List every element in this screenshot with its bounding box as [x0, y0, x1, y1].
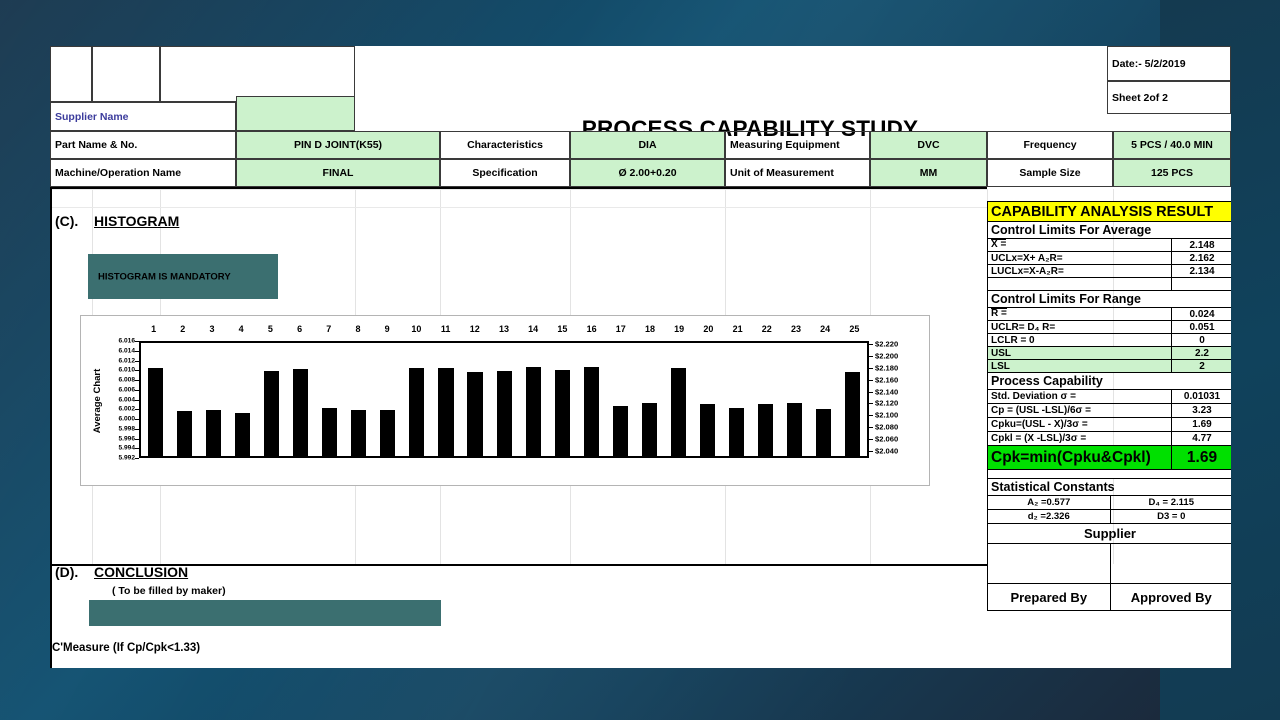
histogram-mandatory-text: HISTOGRAM IS MANDATORY: [98, 271, 231, 282]
chart-bar: [148, 368, 163, 456]
characteristics-value[interactable]: DIA: [570, 131, 725, 159]
specification-value[interactable]: Ø 2.00+0.20: [570, 159, 725, 187]
specification-label-text: Specification: [472, 167, 537, 179]
chart-bar: [816, 409, 831, 456]
chart-y-tick-right: $2.040: [875, 447, 898, 456]
chart-x-tick: 2: [180, 324, 185, 334]
chart-x-tick: 8: [355, 324, 360, 334]
constants-row-2: d₂ =2.326 D3 = 0: [987, 510, 1231, 524]
chart-bar: [438, 368, 453, 456]
chart-y-tick-left: 5.996: [95, 435, 135, 442]
sheet-left-edge-bottom: [50, 564, 52, 668]
chart-x-tick: 17: [616, 324, 626, 334]
date-cell: Date:- 5/2/2019: [1107, 46, 1231, 81]
avg-row-uclx-value: 2.162: [1171, 252, 1231, 264]
chart-bar-slot: [635, 343, 664, 456]
section-d-index: (D).: [55, 564, 78, 580]
chart-x-tick: 25: [849, 324, 859, 334]
chart-bar: [264, 371, 279, 456]
avg-row-lclx: LUCLx=X-A₂R= 2.134: [987, 265, 1231, 278]
histogram-mandatory-box: HISTOGRAM IS MANDATORY: [88, 254, 278, 299]
unit-of-measurement-label: Unit of Measurement: [725, 159, 870, 187]
constant-d2: d₂ =2.326: [988, 510, 1110, 523]
chart-y-tickmark-right: [869, 451, 873, 452]
sample-size-value-text: 125 PCS: [1151, 167, 1193, 179]
measuring-equipment-label: Measuring Equipment: [725, 131, 870, 159]
chart-bar: [845, 372, 860, 456]
part-name-value[interactable]: PIN D JOINT(K55): [236, 131, 440, 159]
approved-by-label: Approved By: [1110, 584, 1232, 610]
section-c-heading: HISTOGRAM: [94, 213, 179, 229]
avg-row-xbar: X = 2.148: [987, 239, 1231, 252]
chart-y-tickmark-right: [869, 439, 873, 440]
avg-row-xbar-label: X =: [988, 239, 1171, 251]
supplier-name-label-cell: Supplier Name: [50, 102, 236, 131]
range-row-lsl-label: LSL: [988, 360, 1171, 372]
chart-bar-slot: [809, 343, 838, 456]
chart-bar-slot: [664, 343, 693, 456]
chart-y-tickmark-left: [135, 458, 139, 459]
cap-row-cp-value: 3.23: [1171, 404, 1231, 417]
statistical-constants-heading: Statistical Constants: [987, 479, 1231, 496]
chart-y-tick-right: $2.140: [875, 387, 898, 396]
chart-x-tick: 10: [411, 324, 421, 334]
chart-y-tick-left: 6.010: [95, 367, 135, 374]
range-row-uclr: UCLR= D₄ R= 0.051: [987, 321, 1231, 334]
sheet-cell: Sheet 2of 2: [1107, 81, 1231, 114]
chart-y-tickmark-right: [869, 415, 873, 416]
frequency-label-text: Frequency: [1023, 139, 1076, 151]
machine-operation-label-text: Machine/Operation Name: [55, 167, 181, 179]
chart-bar-slot: [286, 343, 315, 456]
header-empty-cell-3: [160, 46, 355, 102]
chart-y-tick-left: 6.014: [95, 347, 135, 354]
chart-x-tick: 3: [209, 324, 214, 334]
gridline-horizontal: [50, 207, 987, 208]
supplier-name-label: Supplier Name: [55, 111, 129, 123]
chart-bar-slot: [402, 343, 431, 456]
chart-x-tick: 20: [703, 324, 713, 334]
chart-bar: [206, 410, 221, 456]
cpk-result-value: 1.69: [1171, 446, 1231, 469]
chart-bar: [409, 368, 424, 456]
sample-size-label-text: Sample Size: [1019, 167, 1080, 179]
range-row-rbar-label: R =: [988, 308, 1171, 320]
machine-operation-label: Machine/Operation Name: [50, 159, 236, 187]
supplier-name-value-cell[interactable]: [236, 96, 355, 131]
chart-y-tick-left: 5.994: [95, 445, 135, 452]
chart-y-tickmark-right: [869, 356, 873, 357]
chart-x-tick: 1: [151, 324, 156, 334]
chart-y-tick-right: $2.060: [875, 435, 898, 444]
chart-bar: [671, 368, 686, 456]
prepared-by-signature-area[interactable]: [988, 544, 1110, 583]
chart-y-tick-right: $2.120: [875, 399, 898, 408]
control-limits-average-heading: Control Limits For Average: [987, 222, 1231, 239]
chart-x-tick: 13: [499, 324, 509, 334]
chart-x-tick: 24: [820, 324, 830, 334]
chart-bar-slot: [170, 343, 199, 456]
signature-labels: Prepared By Approved By: [987, 584, 1231, 611]
range-row-rbar: R = 0.024: [987, 308, 1231, 321]
section-d-heading: CONCLUSION: [94, 564, 188, 580]
avg-row-lclx-value: 2.134: [1171, 265, 1231, 277]
chart-bar-slot: [693, 343, 722, 456]
chart-bar: [642, 403, 657, 456]
range-row-uclr-label: UCLR= D₄ R=: [988, 321, 1171, 333]
slide-canvas: PROCESS CAPABILITY STUDY Date:- 5/2/2019…: [0, 0, 1280, 720]
avg-row-blank-value: [1171, 278, 1231, 290]
cap-row-cpku: Cpku=(USL - X)/3σ = 1.69: [987, 418, 1231, 432]
panel-spacer: [987, 470, 1231, 479]
chart-bar: [293, 369, 308, 456]
header-bottom-rule: [50, 187, 987, 189]
chart-bar-slot: [838, 343, 867, 456]
cpk-result-label: Cpk=min(Cpku&Cpkl): [988, 446, 1171, 469]
constant-d3: D3 = 0: [1110, 510, 1232, 523]
chart-y-tick-left: 6.002: [95, 406, 135, 413]
control-limits-range-heading: Control Limits For Range: [987, 291, 1231, 308]
measuring-equipment-value[interactable]: DVC: [870, 131, 987, 159]
range-row-lclr-value: 0: [1171, 334, 1231, 346]
chart-y-tick-right: $2.200: [875, 351, 898, 360]
avg-row-blank: [987, 278, 1231, 291]
chart-x-tick: 15: [557, 324, 567, 334]
header-left-edge: [50, 187, 52, 567]
chart-y-tickmark-right: [869, 392, 873, 393]
cpk-result-row: Cpk=min(Cpku&Cpkl) 1.69: [987, 446, 1231, 470]
avg-row-uclx: UCLx=X+ A₂R= 2.162: [987, 252, 1231, 265]
header-empty-cell-2: [92, 46, 160, 102]
constant-a2: A₂ =0.577: [988, 496, 1110, 509]
chart-bar-slot: [722, 343, 751, 456]
chart-y-tickmark-right: [869, 368, 873, 369]
avg-row-blank-label: [988, 278, 1171, 290]
chart-bar: [235, 413, 250, 456]
chart-bar: [584, 367, 599, 456]
chart-bar: [555, 370, 570, 456]
range-row-lsl-value: 2: [1171, 360, 1231, 372]
cap-row-stddev-value: 0.01031: [1171, 390, 1231, 403]
range-row-uclr-value: 0.051: [1171, 321, 1231, 333]
chart-bar: [758, 404, 773, 456]
chart-y-tick-right: $2.180: [875, 363, 898, 372]
cmeasure-note: C'Measure (If Cp/Cpk<1.33): [52, 642, 200, 654]
chart-x-tick: 5: [268, 324, 273, 334]
chart-bar: [613, 406, 628, 456]
chart-y-tickmark-right: [869, 344, 873, 345]
chart-y-tick-right: $2.100: [875, 411, 898, 420]
chart-bar-slot: [199, 343, 228, 456]
range-row-usl-label: USL: [988, 347, 1171, 359]
chart-y-tick-left: 6.000: [95, 416, 135, 423]
chart-bar-slot: [344, 343, 373, 456]
section-c-index: (C).: [55, 213, 78, 229]
chart-y-tick-right: $2.160: [875, 375, 898, 384]
chart-bar-slot: [373, 343, 402, 456]
specification-label: Specification: [440, 159, 570, 187]
measuring-equipment-value-text: DVC: [917, 139, 939, 151]
chart-bars: [141, 343, 867, 456]
constants-row-1: A₂ =0.577 D₄ = 2.115: [987, 496, 1231, 510]
chart-bar-slot: [490, 343, 519, 456]
unit-of-measurement-label-text: Unit of Measurement: [730, 167, 834, 179]
chart-bar-slot: [228, 343, 257, 456]
part-name-label-text: Part Name & No.: [55, 139, 137, 151]
chart-x-tick: 6: [297, 324, 302, 334]
chart-y-tick-left: 6.008: [95, 377, 135, 384]
chart-plot-area: [139, 341, 869, 458]
cap-row-cpkl-value: 4.77: [1171, 432, 1231, 445]
cap-row-stddev: Std. Deviation σ = 0.01031: [987, 390, 1231, 404]
specification-value-text: Ø 2.00+0.20: [618, 167, 676, 179]
chart-bar-slot: [315, 343, 344, 456]
characteristics-label: Characteristics: [440, 131, 570, 159]
chart-x-tick: 23: [791, 324, 801, 334]
unit-of-measurement-value[interactable]: MM: [870, 159, 987, 187]
cap-row-cpku-value: 1.69: [1171, 418, 1231, 431]
chart-bar: [351, 410, 366, 456]
avg-row-uclx-label: UCLx=X+ A₂R=: [988, 252, 1171, 264]
chart-x-tick: 9: [385, 324, 390, 334]
chart-y-tick-left: 6.012: [95, 357, 135, 364]
cap-row-cp-label: Cp = (USL -LSL)/6σ =: [988, 404, 1171, 417]
chart-bar: [729, 408, 744, 456]
frequency-value[interactable]: 5 PCS / 40.0 MIN: [1113, 131, 1231, 159]
approved-by-signature-area[interactable]: [1110, 544, 1232, 583]
chart-bar-slot: [141, 343, 170, 456]
average-chart: Average Chart 6.0166.0146.0126.0106.0086…: [80, 315, 930, 486]
machine-operation-value-text: FINAL: [323, 167, 354, 179]
cap-row-cp: Cp = (USL -LSL)/6σ = 3.23: [987, 404, 1231, 418]
chart-x-tick: 16: [587, 324, 597, 334]
range-row-lsl: LSL 2: [987, 360, 1231, 373]
chart-y-tick-right: $2.220: [875, 340, 898, 349]
range-row-usl-value: 2.2: [1171, 347, 1231, 359]
range-row-usl: USL 2.2: [987, 347, 1231, 360]
supplier-heading: Supplier: [987, 524, 1231, 544]
chart-y-tick-right: $2.080: [875, 423, 898, 432]
header-empty-cell-1: [50, 46, 92, 102]
chart-bar: [700, 404, 715, 456]
constant-d4: D₄ = 2.115: [1110, 496, 1232, 509]
frequency-value-text: 5 PCS / 40.0 MIN: [1131, 139, 1213, 151]
measuring-equipment-label-text: Measuring Equipment: [730, 139, 840, 151]
chart-bar-slot: [751, 343, 780, 456]
range-row-rbar-value: 0.024: [1171, 308, 1231, 320]
chart-x-tick: 14: [528, 324, 538, 334]
chart-x-tick: 21: [733, 324, 743, 334]
cap-row-stddev-label: Std. Deviation σ =: [988, 390, 1171, 403]
worksheet-sheet: PROCESS CAPABILITY STUDY Date:- 5/2/2019…: [50, 46, 1231, 668]
range-row-lclr: LCLR = 0 0: [987, 334, 1231, 347]
gridline-horizontal: [50, 189, 987, 190]
frequency-label: Frequency: [987, 131, 1113, 159]
chart-y-tick-left: 5.992: [95, 455, 135, 462]
chart-y-tick-left: 6.016: [95, 338, 135, 345]
sample-size-label: Sample Size: [987, 159, 1113, 187]
avg-row-xbar-value: 2.148: [1171, 239, 1231, 251]
date-text: Date:- 5/2/2019: [1112, 58, 1186, 70]
avg-row-lclx-label: LUCLx=X-A₂R=: [988, 265, 1171, 277]
chart-bar-slot: [548, 343, 577, 456]
cap-row-cpkl-label: Cpkl = (X -LSL)/3σ =: [988, 432, 1171, 445]
chart-y-tickmark-right: [869, 403, 873, 404]
panel-title: CAPABILITY ANALYSIS RESULT: [987, 201, 1231, 222]
chart-x-tick: 11: [441, 324, 451, 334]
chart-bar: [497, 371, 512, 456]
chart-bar: [526, 367, 541, 456]
chart-bar-slot: [431, 343, 460, 456]
range-row-lclr-label: LCLR = 0: [988, 334, 1171, 346]
sample-size-value[interactable]: 125 PCS: [1113, 159, 1231, 187]
chart-x-tick: 12: [470, 324, 480, 334]
machine-operation-value[interactable]: FINAL: [236, 159, 440, 187]
chart-bar-slot: [780, 343, 809, 456]
unit-of-measurement-value-text: MM: [920, 167, 938, 179]
chart-x-tick: 18: [645, 324, 655, 334]
characteristics-label-text: Characteristics: [467, 139, 543, 151]
chart-bar-slot: [606, 343, 635, 456]
sheet-text: Sheet 2of 2: [1112, 92, 1168, 104]
part-name-value-text: PIN D JOINT(K55): [294, 139, 382, 151]
section-d-top-rule: [50, 564, 987, 566]
chart-y-tick-left: 5.998: [95, 425, 135, 432]
signature-block: [987, 544, 1231, 584]
chart-bar: [467, 372, 482, 456]
cap-row-cpkl: Cpkl = (X -LSL)/3σ = 4.77: [987, 432, 1231, 446]
chart-y-tick-left: 6.006: [95, 386, 135, 393]
chart-x-tick: 19: [674, 324, 684, 334]
prepared-by-label: Prepared By: [988, 584, 1110, 610]
cap-row-cpku-label: Cpku=(USL - X)/3σ =: [988, 418, 1171, 431]
conclusion-input-box[interactable]: [89, 600, 441, 626]
chart-bar: [322, 408, 337, 456]
chart-bar-slot: [461, 343, 490, 456]
chart-bar-slot: [257, 343, 286, 456]
process-capability-heading: Process Capability: [987, 373, 1231, 390]
chart-bar: [177, 411, 192, 456]
chart-x-tick: 4: [239, 324, 244, 334]
characteristics-value-text: DIA: [638, 139, 656, 151]
chart-y-tickmark-right: [869, 380, 873, 381]
chart-bar: [787, 403, 802, 456]
capability-analysis-panel: CAPABILITY ANALYSIS RESULT Control Limit…: [987, 201, 1231, 611]
chart-x-tick: 22: [762, 324, 772, 334]
chart-bar: [380, 410, 395, 456]
chart-bar-slot: [519, 343, 548, 456]
part-name-label: Part Name & No.: [50, 131, 236, 159]
chart-y-tick-left: 6.004: [95, 396, 135, 403]
chart-bar-slot: [577, 343, 606, 456]
section-d-subnote: ( To be filled by maker): [112, 585, 226, 597]
chart-y-tickmark-right: [869, 427, 873, 428]
chart-x-tick: 7: [326, 324, 331, 334]
